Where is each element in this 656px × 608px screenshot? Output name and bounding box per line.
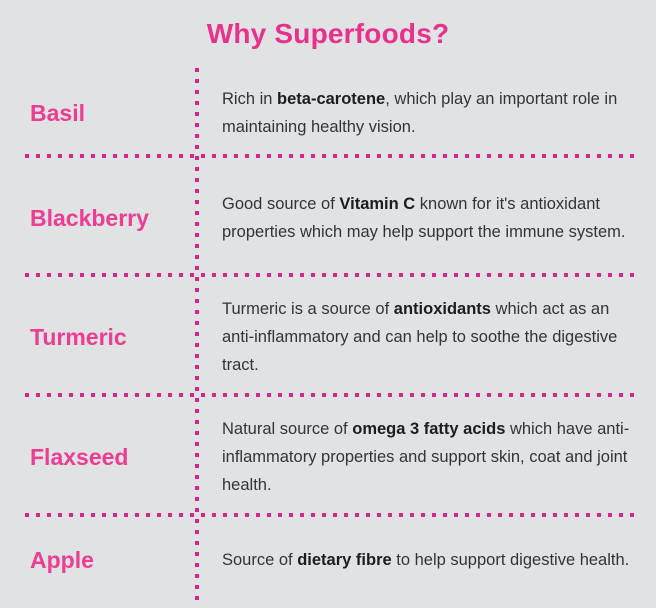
superfood-description: Good source of Vitamin C known for it's … (195, 190, 656, 246)
superfood-name: Basil (0, 99, 195, 127)
page-title: Why Superfoods? (0, 17, 656, 51)
desc-highlight: Vitamin C (339, 195, 415, 213)
desc-text-pre: Good source of (222, 195, 339, 213)
desc-highlight: antioxidants (394, 300, 491, 318)
desc-text-post: to help support digestive health. (392, 551, 630, 569)
table-row: Basil Rich in beta-carotene, which play … (0, 68, 656, 158)
desc-text-pre: Turmeric is a source of (222, 300, 394, 318)
superfood-name: Turmeric (0, 323, 195, 351)
table-row: Turmeric Turmeric is a source of antioxi… (0, 277, 656, 397)
desc-text-pre: Source of (222, 551, 297, 569)
desc-highlight: dietary fibre (297, 551, 391, 569)
superfood-name: Blackberry (0, 204, 195, 232)
superfood-name: Flaxseed (0, 443, 195, 471)
superfood-description: Rich in beta-carotene, which play an imp… (195, 85, 656, 141)
superfood-name: Apple (0, 546, 195, 574)
table-row: Flaxseed Natural source of omega 3 fatty… (0, 397, 656, 517)
superfood-description: Source of dietary fibre to help support … (195, 546, 656, 574)
superfood-description: Turmeric is a source of antioxidants whi… (195, 295, 656, 379)
table-row: Blackberry Good source of Vitamin C know… (0, 158, 656, 277)
desc-highlight: omega 3 fatty acids (352, 420, 505, 438)
superfood-description: Natural source of omega 3 fatty acids wh… (195, 415, 656, 499)
superfoods-table: Basil Rich in beta-carotene, which play … (0, 68, 656, 602)
desc-text-pre: Rich in (222, 90, 277, 108)
table-row: Apple Source of dietary fibre to help su… (0, 517, 656, 602)
superfoods-infographic: Why Superfoods? Basil Rich in beta-carot… (0, 0, 656, 608)
desc-highlight: beta-carotene (277, 90, 385, 108)
desc-text-pre: Natural source of (222, 420, 352, 438)
